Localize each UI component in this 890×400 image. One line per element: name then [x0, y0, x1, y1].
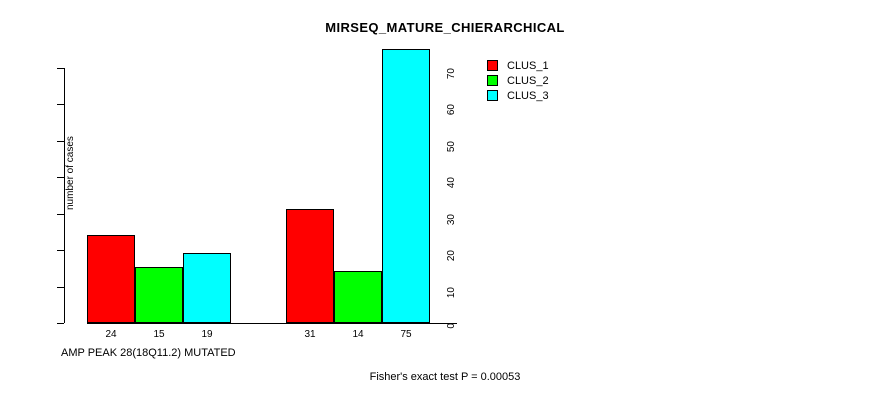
- bar-clus_2: [334, 271, 382, 323]
- legend-swatch-icon: [487, 75, 498, 86]
- y-axis-tick: [57, 287, 64, 288]
- bar-value-label: 75: [382, 330, 430, 340]
- bar-clus_1: [286, 209, 334, 323]
- legend-swatch-icon: [487, 60, 498, 71]
- y-axis-tick-label: 70: [447, 68, 457, 98]
- y-axis-tick: [57, 323, 64, 324]
- legend-item-label: CLUS_2: [507, 75, 549, 87]
- x-axis-group-label: AMP PEAK 28(18Q11.2) MUTATED: [61, 348, 236, 359]
- y-axis-tick: [57, 68, 64, 69]
- statistical-test-note: Fisher's exact test P = 0.00053: [0, 371, 890, 383]
- bar-value-label: 24: [87, 330, 135, 340]
- bar-value-label: 15: [135, 330, 183, 340]
- y-axis-tick: [57, 141, 64, 142]
- bar-clus_2: [135, 267, 183, 323]
- y-axis-tick: [57, 104, 64, 105]
- y-axis-title: number of cases: [66, 136, 76, 210]
- chart-container: MIRSEQ_MATURE_CHIERARCHICAL 010203040506…: [0, 0, 890, 400]
- bar-value-label: 31: [286, 330, 334, 340]
- y-axis-tick-label: 40: [447, 177, 457, 207]
- legend-item-label: CLUS_3: [507, 90, 549, 102]
- y-axis-tick-label: 10: [447, 287, 457, 317]
- y-axis-tick-label: 20: [447, 250, 457, 280]
- plot-area: 010203040506070 number of cases 24151931…: [64, 60, 464, 324]
- bar-value-label: 14: [334, 330, 382, 340]
- y-axis-tick: [57, 214, 64, 215]
- bar-clus_3: [183, 253, 231, 323]
- legend-swatch-icon: [487, 90, 498, 101]
- bar-clus_3: [382, 49, 430, 323]
- y-axis-tick: [57, 177, 64, 178]
- y-axis-tick-label: 60: [447, 104, 457, 134]
- chart-title: MIRSEQ_MATURE_CHIERARCHICAL: [0, 20, 890, 35]
- y-axis-tick-label: 0: [447, 323, 457, 353]
- bar-clus_1: [87, 235, 135, 323]
- y-axis-tick-label: 30: [447, 214, 457, 244]
- bar-value-label: 19: [183, 330, 231, 340]
- x-axis-line: [87, 323, 457, 324]
- y-axis-tick-label: 50: [447, 141, 457, 171]
- legend-item-label: CLUS_1: [507, 60, 549, 72]
- y-axis-tick: [57, 250, 64, 251]
